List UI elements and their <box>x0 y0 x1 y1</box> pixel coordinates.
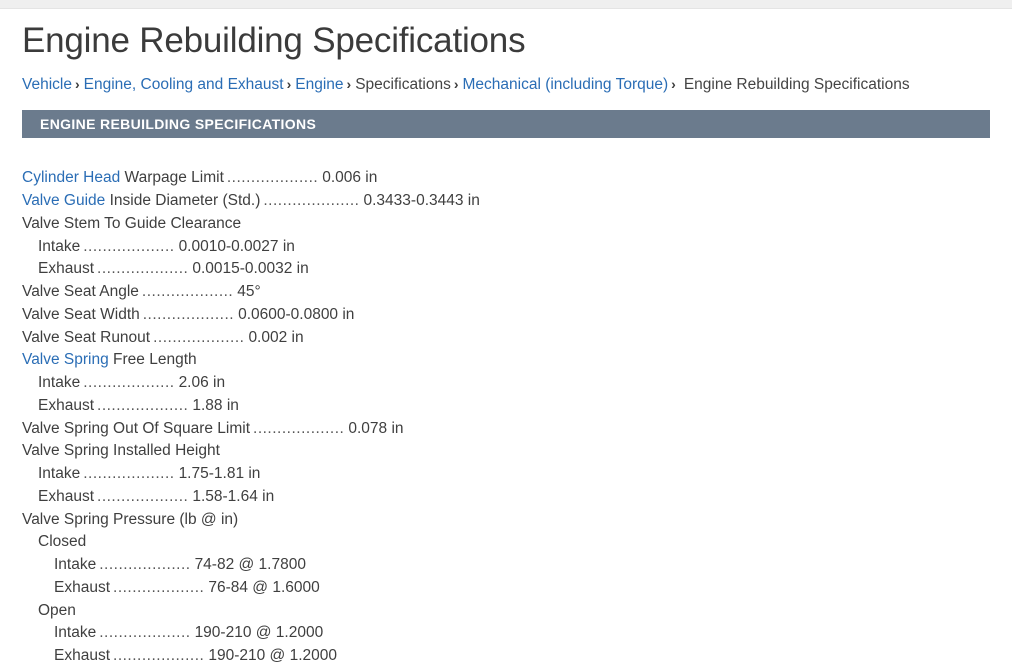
spec-leader-dots: ................... <box>139 283 237 300</box>
spec-label: Inside Diameter (Std.) <box>105 192 260 209</box>
spec-link[interactable]: Cylinder Head <box>22 169 120 186</box>
breadcrumb-item-2[interactable]: Engine <box>295 76 343 93</box>
spec-leader-dots: ................... <box>110 647 208 664</box>
spec-leader-dots: ................... <box>80 238 178 255</box>
spec-row: Valve Spring Installed Height <box>22 440 990 463</box>
spec-link[interactable]: Valve Guide <box>22 192 105 209</box>
spec-value: 190-210 @ 1.2000 <box>208 647 337 664</box>
spec-label: Valve Spring Out Of Square Limit <box>22 420 250 437</box>
spec-row: Valve Seat Angle...................45° <box>22 281 990 304</box>
spec-label: Closed <box>38 533 86 550</box>
spec-row: Valve Spring Out Of Square Limit........… <box>22 418 990 441</box>
spec-leader-dots: ................... <box>150 329 248 346</box>
spec-value: 0.0600-0.0800 in <box>238 306 354 323</box>
specifications-list: Cylinder Head Warpage Limit.............… <box>22 167 990 668</box>
spec-value: 0.0010-0.0027 in <box>179 238 295 255</box>
spec-leader-dots: ................... <box>96 556 194 573</box>
spec-leader-dots: ................... <box>250 420 348 437</box>
spec-value: 0.0015-0.0032 in <box>192 260 308 277</box>
breadcrumb-separator-icon: › <box>72 76 84 92</box>
spec-row: Exhaust...................1.88 in <box>22 395 990 418</box>
spec-row: Closed <box>22 531 990 554</box>
spec-row: Valve Stem To Guide Clearance <box>22 213 990 236</box>
spec-row: Valve Spring Pressure (lb @ in) <box>22 509 990 532</box>
spec-label: Exhaust <box>54 579 110 596</box>
page-title: Engine Rebuilding Specifications <box>22 19 990 63</box>
spec-value: 0.078 in <box>348 420 403 437</box>
spec-row: Intake...................2.06 in <box>22 372 990 395</box>
spec-label: Warpage Limit <box>120 169 224 186</box>
spec-value: 2.06 in <box>179 374 226 391</box>
spec-label: Valve Spring Installed Height <box>22 442 220 459</box>
spec-leader-dots: .................... <box>260 192 363 209</box>
spec-value: 76-84 @ 1.6000 <box>208 579 319 596</box>
breadcrumb-item-5: Engine Rebuilding Specifications <box>684 76 910 93</box>
spec-label: Open <box>38 602 76 619</box>
spec-label: Exhaust <box>38 260 94 277</box>
spec-label: Exhaust <box>38 488 94 505</box>
spec-leader-dots: ................... <box>94 488 192 505</box>
top-strip <box>0 0 1012 9</box>
spec-label: Valve Seat Angle <box>22 283 139 300</box>
spec-row: Exhaust...................76-84 @ 1.6000 <box>22 577 990 600</box>
spec-label: Exhaust <box>38 397 94 414</box>
spec-row: Open <box>22 600 990 623</box>
breadcrumb-item-4[interactable]: Mechanical (including Torque) <box>463 76 669 93</box>
spec-leader-dots: ................... <box>96 624 194 641</box>
spec-label: Intake <box>38 465 80 482</box>
spec-value: 0.3433-0.3443 in <box>364 192 480 209</box>
breadcrumb: Vehicle›Engine, Cooling and Exhaust›Engi… <box>22 76 990 95</box>
spec-value: 1.58-1.64 in <box>192 488 274 505</box>
breadcrumb-separator-icon: › <box>451 76 463 92</box>
spec-label: Valve Spring Pressure (lb @ in) <box>22 511 238 528</box>
spec-row: Exhaust...................1.58-1.64 in <box>22 486 990 509</box>
spec-value: 0.002 in <box>248 329 303 346</box>
spec-row: Intake...................0.0010-0.0027 i… <box>22 236 990 259</box>
spec-row: Valve Spring Free Length <box>22 349 990 372</box>
spec-row: Valve Seat Width...................0.060… <box>22 304 990 327</box>
spec-row: Intake...................190-210 @ 1.200… <box>22 622 990 645</box>
spec-label: Intake <box>54 556 96 573</box>
spec-leader-dots: ................... <box>110 579 208 596</box>
spec-value: 45° <box>237 283 260 300</box>
breadcrumb-separator-icon: › <box>668 76 684 92</box>
spec-label: Intake <box>38 238 80 255</box>
spec-value: 190-210 @ 1.2000 <box>195 624 324 641</box>
spec-label: Valve Stem To Guide Clearance <box>22 215 241 232</box>
spec-label: Valve Seat Runout <box>22 329 150 346</box>
spec-value: 1.75-1.81 in <box>179 465 261 482</box>
spec-label: Free Length <box>109 351 197 368</box>
breadcrumb-item-1[interactable]: Engine, Cooling and Exhaust <box>84 76 284 93</box>
spec-label: Exhaust <box>54 647 110 664</box>
spec-label: Intake <box>54 624 96 641</box>
spec-row: Exhaust...................0.0015-0.0032 … <box>22 258 990 281</box>
spec-value: 0.006 in <box>322 169 377 186</box>
spec-row: Exhaust...................190-210 @ 1.20… <box>22 645 990 668</box>
spec-leader-dots: ................... <box>94 260 192 277</box>
section-header-bar: ENGINE REBUILDING SPECIFICATIONS <box>22 110 990 138</box>
spec-leader-dots: ................... <box>94 397 192 414</box>
breadcrumb-item-3: Specifications <box>355 76 451 93</box>
spec-row: Valve Seat Runout...................0.00… <box>22 327 990 350</box>
section-header-title: ENGINE REBUILDING SPECIFICATIONS <box>40 116 316 132</box>
breadcrumb-separator-icon: › <box>344 76 356 92</box>
spec-row: Cylinder Head Warpage Limit.............… <box>22 167 990 190</box>
spec-value: 74-82 @ 1.7800 <box>195 556 306 573</box>
spec-leader-dots: ................... <box>140 306 238 323</box>
breadcrumb-item-0[interactable]: Vehicle <box>22 76 72 93</box>
spec-link[interactable]: Valve Spring <box>22 351 109 368</box>
page-container: Engine Rebuilding Specifications Vehicle… <box>0 19 1012 668</box>
spec-leader-dots: ................... <box>80 374 178 391</box>
spec-value: 1.88 in <box>192 397 239 414</box>
spec-label: Valve Seat Width <box>22 306 140 323</box>
spec-row: Intake...................1.75-1.81 in <box>22 463 990 486</box>
spec-leader-dots: ................... <box>224 169 322 186</box>
spec-row: Intake...................74-82 @ 1.7800 <box>22 554 990 577</box>
spec-leader-dots: ................... <box>80 465 178 482</box>
spec-row: Valve Guide Inside Diameter (Std.)......… <box>22 190 990 213</box>
breadcrumb-separator-icon: › <box>284 76 296 92</box>
spec-label: Intake <box>38 374 80 391</box>
